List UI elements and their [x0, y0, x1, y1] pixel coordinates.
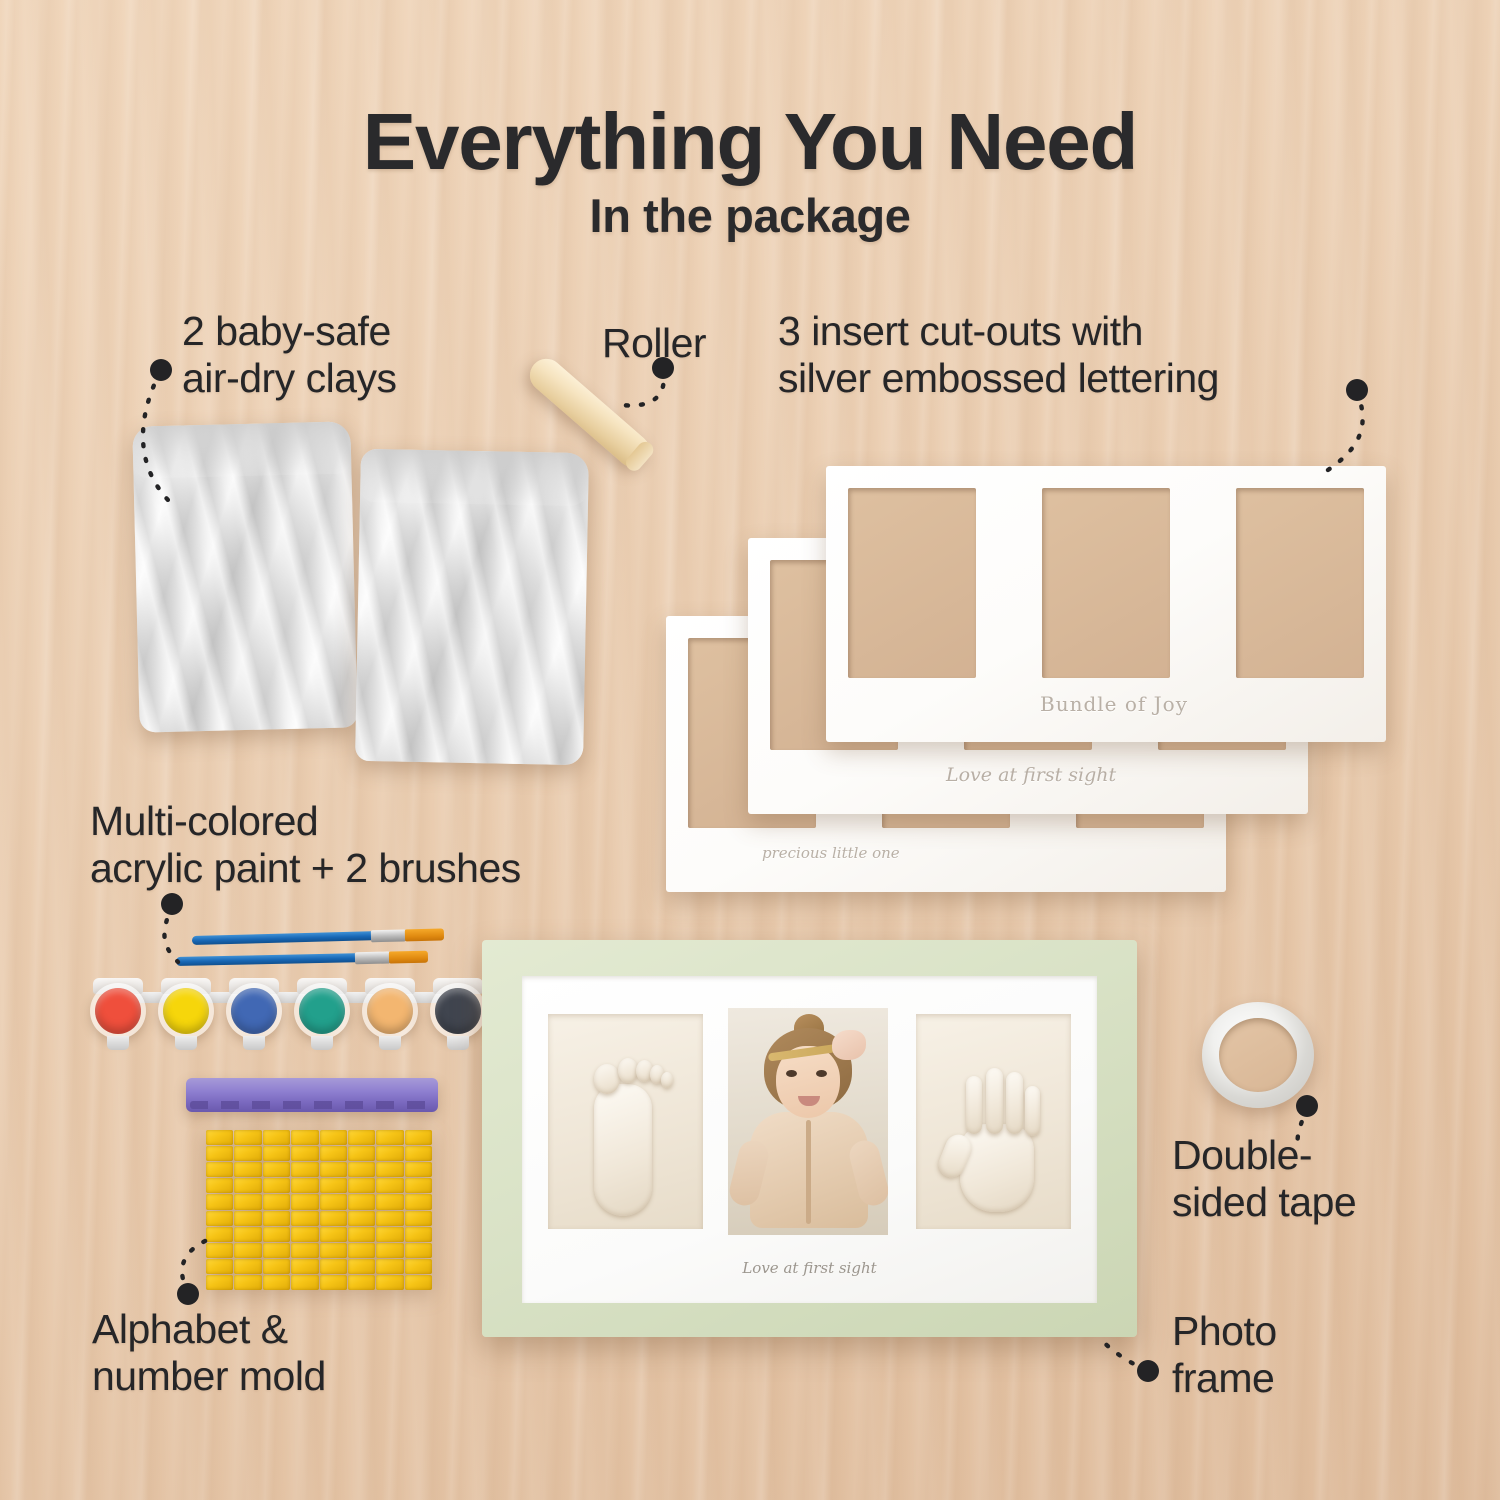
mold-tile: [376, 1259, 403, 1274]
paint-pot-blue: [226, 983, 282, 1039]
mold-tile: [320, 1243, 347, 1258]
mold-tile: [263, 1194, 290, 1209]
mold-tile: [263, 1130, 290, 1145]
mold-tile: [376, 1227, 403, 1242]
mold-tile: [320, 1275, 347, 1290]
page-title: Everything You Need: [0, 96, 1500, 188]
pot-cup: [294, 983, 350, 1039]
pot-paint: [231, 988, 277, 1034]
mold-tile: [320, 1178, 347, 1193]
mold-tile: [348, 1146, 375, 1161]
mold-tile: [405, 1178, 432, 1193]
baby-eye-right: [816, 1070, 827, 1077]
paint-pot-peach: [362, 983, 418, 1039]
double-sided-tape-roll: [1202, 1002, 1314, 1108]
mold-tile: [234, 1275, 261, 1290]
photo-frame: Love at first sight: [482, 940, 1137, 1337]
mold-tile: [320, 1227, 347, 1242]
mold-tile: [405, 1162, 432, 1177]
insert-window: [848, 488, 976, 678]
pot-cup: [430, 983, 486, 1039]
page-subtitle: In the package: [0, 188, 1500, 243]
paint-brush-2: [176, 952, 428, 966]
pot-tab: [107, 1036, 129, 1050]
mold-tile: [234, 1178, 261, 1193]
mold-tile: [263, 1275, 290, 1290]
clay-pouch-1: [132, 421, 357, 732]
mold-tile: [376, 1275, 403, 1290]
mold-tile: [291, 1146, 318, 1161]
paint-pot-navy: [430, 983, 486, 1039]
pot-tab: [447, 1036, 469, 1050]
mold-tile: [348, 1259, 375, 1274]
baby-onesie-placket: [806, 1120, 811, 1224]
mold-tile: [291, 1259, 318, 1274]
mold-tile: [234, 1194, 261, 1209]
label-frame: Photo frame: [1172, 1308, 1277, 1401]
handprint-panel: [916, 1014, 1071, 1229]
brush-bristles: [405, 928, 444, 941]
brush-bristles: [389, 950, 428, 963]
pot-cup: [158, 983, 214, 1039]
frame-caption: Love at first sight: [522, 1259, 1097, 1277]
pot-paint: [163, 988, 209, 1034]
mold-tile: [234, 1211, 261, 1226]
mold-tile: [206, 1162, 233, 1177]
pot-paint: [367, 988, 413, 1034]
mold-tile: [376, 1178, 403, 1193]
insert-lettering-1: Bundle of Joy: [1040, 692, 1188, 716]
mold-tile: [291, 1275, 318, 1290]
label-clays: 2 baby-safe air-dry clays: [182, 308, 396, 401]
pot-cup: [362, 983, 418, 1039]
insert-window: [1042, 488, 1170, 678]
paint-pot-teal: [294, 983, 350, 1039]
label-mold: Alphabet & number mold: [92, 1306, 326, 1399]
mold-tile: [291, 1243, 318, 1258]
mold-tile: [263, 1146, 290, 1161]
pot-tab: [311, 1036, 333, 1050]
mold-tile: [376, 1243, 403, 1258]
mold-tile: [206, 1178, 233, 1193]
mold-tile: [348, 1178, 375, 1193]
label-roller: Roller: [602, 320, 706, 367]
pot-paint: [95, 988, 141, 1034]
mold-tile: [263, 1227, 290, 1242]
mold-tile: [263, 1259, 290, 1274]
brush-handle: [176, 953, 358, 966]
brush-handle: [192, 931, 374, 945]
mold-tile: [348, 1162, 375, 1177]
frame-mat: Love at first sight: [522, 976, 1097, 1303]
clay-pouch-2: [355, 449, 589, 765]
mold-press-bar: [186, 1078, 438, 1112]
mold-tile: [320, 1211, 347, 1226]
mold-tile: [234, 1227, 261, 1242]
mold-tile: [234, 1146, 261, 1161]
insert-mat-1: Bundle of Joy: [826, 466, 1386, 742]
mold-tile: [376, 1211, 403, 1226]
mold-tile: [320, 1162, 347, 1177]
baby-photo: [728, 1008, 888, 1235]
mold-tile: [263, 1211, 290, 1226]
brush-ferrule: [371, 929, 407, 942]
mold-tile: [348, 1211, 375, 1226]
pot-paint: [299, 988, 345, 1034]
mold-tile: [405, 1275, 432, 1290]
mold-tile: [320, 1259, 347, 1274]
paint-pot-yellow: [158, 983, 214, 1039]
baby-bow: [832, 1030, 866, 1060]
mold-tile: [405, 1194, 432, 1209]
mold-tile: [291, 1227, 318, 1242]
mold-tile: [206, 1194, 233, 1209]
mold-tile: [405, 1211, 432, 1226]
mold-tile: [263, 1178, 290, 1193]
mold-tile: [291, 1194, 318, 1209]
mold-tile: [348, 1275, 375, 1290]
mold-tile: [405, 1146, 432, 1161]
insert-lettering-2: Love at first sight: [946, 764, 1116, 786]
paint-pot-red: [90, 983, 146, 1039]
mold-tile: [206, 1243, 233, 1258]
mold-tile: [206, 1259, 233, 1274]
insert-lettering-3: precious little one: [762, 844, 900, 862]
mold-tile: [263, 1162, 290, 1177]
label-tape: Double- sided tape: [1172, 1132, 1356, 1225]
mold-tile: [206, 1146, 233, 1161]
mold-tile: [376, 1162, 403, 1177]
baby-eye-left: [786, 1070, 797, 1077]
mold-tile: [348, 1130, 375, 1145]
pot-tab: [175, 1036, 197, 1050]
pot-cup: [226, 983, 282, 1039]
mold-tile: [320, 1146, 347, 1161]
mold-tile: [291, 1130, 318, 1145]
mold-tile: [320, 1130, 347, 1145]
infographic-canvas: Everything You Need In the package preci…: [0, 0, 1500, 1500]
pot-tab: [243, 1036, 265, 1050]
mold-tile: [206, 1275, 233, 1290]
mold-tile: [405, 1243, 432, 1258]
mold-tile: [405, 1227, 432, 1242]
mold-tile: [348, 1194, 375, 1209]
paint-brush-1: [192, 929, 444, 945]
mold-tile: [206, 1211, 233, 1226]
label-paint: Multi-colored acrylic paint + 2 brushes: [90, 798, 521, 891]
footprint-panel: [548, 1014, 703, 1229]
mold-tile: [234, 1259, 261, 1274]
mold-tile: [405, 1130, 432, 1145]
mold-tile: [234, 1162, 261, 1177]
pot-cup: [90, 983, 146, 1039]
label-inserts: 3 insert cut-outs with silver embossed l…: [778, 308, 1219, 401]
pot-tab: [379, 1036, 401, 1050]
mold-tile: [291, 1178, 318, 1193]
mold-tile: [234, 1243, 261, 1258]
mold-tile: [263, 1243, 290, 1258]
mold-tile: [376, 1146, 403, 1161]
brush-ferrule: [355, 951, 391, 964]
mold-tile: [291, 1211, 318, 1226]
mold-tile: [320, 1194, 347, 1209]
mold-tile: [206, 1227, 233, 1242]
mold-tile: [376, 1130, 403, 1145]
mold-tile: [234, 1130, 261, 1145]
pot-paint: [435, 988, 481, 1034]
mold-tile: [348, 1227, 375, 1242]
mold-tile: [206, 1130, 233, 1145]
mold-tile: [348, 1243, 375, 1258]
mold-tile: [376, 1194, 403, 1209]
alphabet-number-mold: [206, 1130, 432, 1290]
mold-tile: [291, 1162, 318, 1177]
insert-window: [1236, 488, 1364, 678]
mold-tile: [405, 1259, 432, 1274]
